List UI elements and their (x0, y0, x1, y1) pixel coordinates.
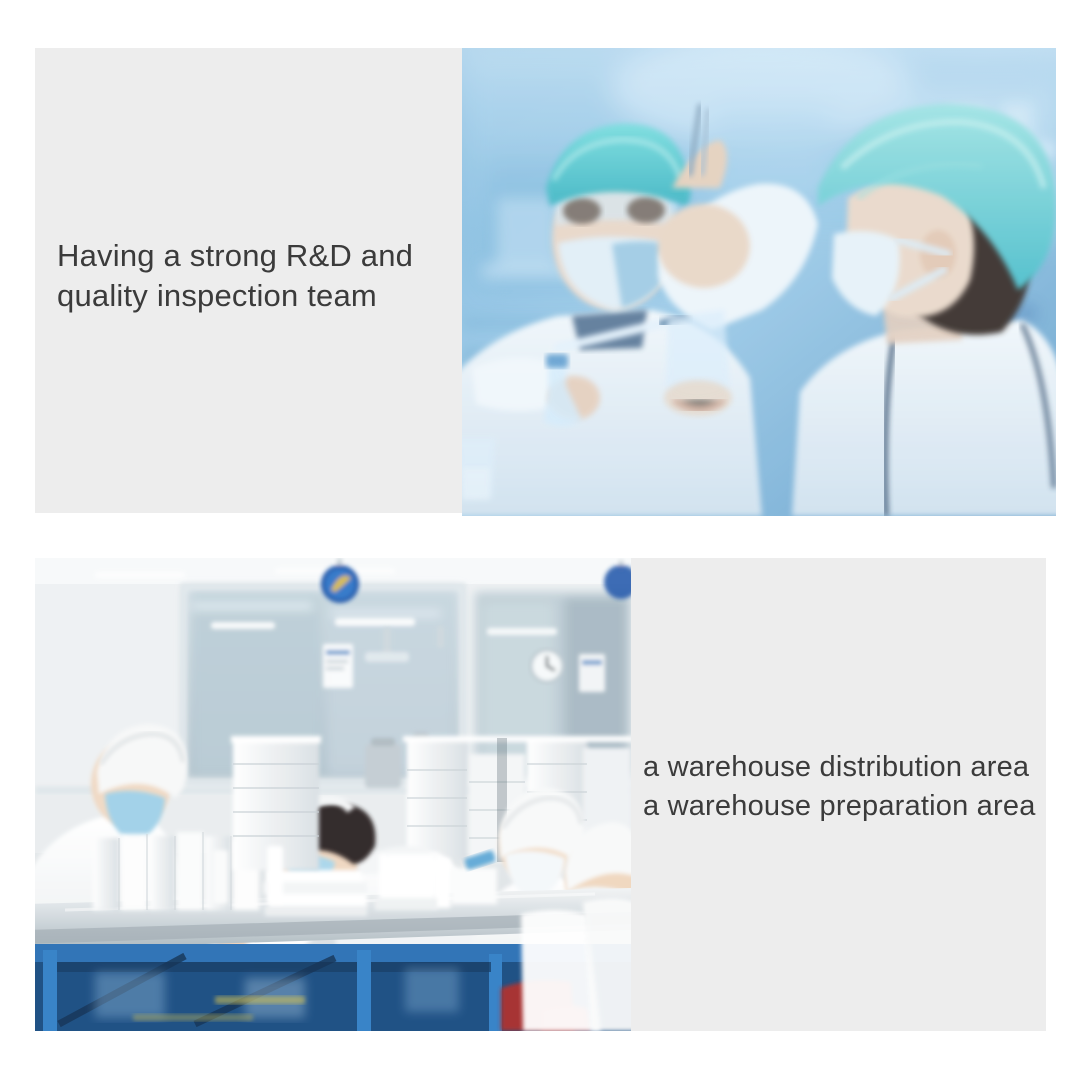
top-caption-line-2: quality inspection team (57, 276, 457, 316)
lab-inspection-illustration (462, 48, 1056, 516)
bottom-caption-line-2: a warehouse preparation area (643, 787, 1043, 826)
top-caption: Having a strong R&D and quality inspecti… (57, 236, 457, 316)
bottom-caption: a warehouse distribution area a warehous… (643, 748, 1043, 826)
top-caption-line-1: Having a strong R&D and (57, 236, 457, 276)
top-section: Having a strong R&D and quality inspecti… (35, 48, 1056, 516)
bottom-text-panel: a warehouse distribution area a warehous… (631, 558, 1046, 1031)
lab-inspection-photo (462, 48, 1056, 516)
bottom-caption-line-1: a warehouse distribution area (643, 748, 1043, 787)
bottom-section: a warehouse distribution area a warehous… (35, 558, 1046, 1031)
top-text-panel: Having a strong R&D and quality inspecti… (35, 48, 462, 513)
warehouse-packing-photo (35, 558, 631, 1031)
warehouse-packing-illustration (35, 558, 631, 1031)
